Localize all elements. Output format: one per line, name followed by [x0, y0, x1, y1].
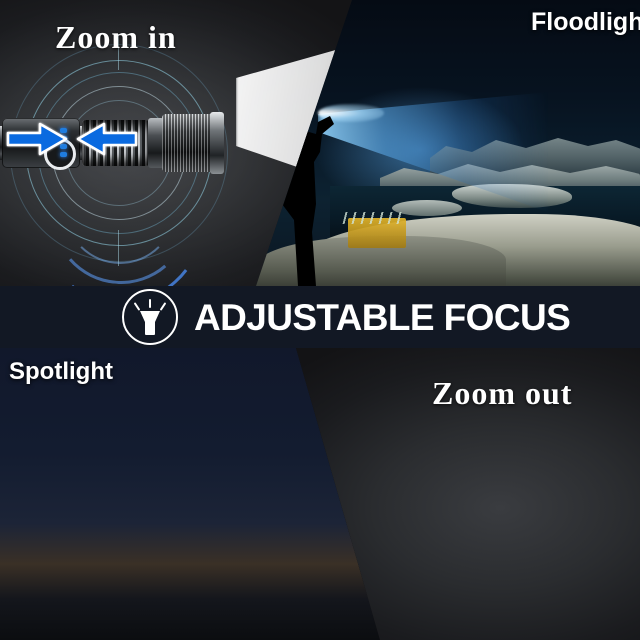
banner-title: ADJUSTABLE FOCUS: [194, 299, 570, 336]
flashlight-icon: [122, 289, 178, 345]
spotlight-label: Spotlight: [9, 358, 113, 386]
zoom-out-label: Zoom out: [432, 375, 572, 412]
flashlight-icon-body: [145, 321, 155, 335]
campsite-frame: [343, 212, 408, 224]
floodlight-label: Floodlight: [531, 8, 640, 37]
flashlight-icon-ray-left: [134, 302, 141, 311]
flashlight-icon-ray-center: [149, 299, 151, 308]
flashlight-bezel: [210, 112, 224, 174]
infographic-canvas: ADJUSTABLE FOCUS: [0, 0, 640, 640]
flashlight-icon-ray-right: [160, 302, 167, 311]
hud-tick-bottom: [118, 230, 119, 266]
zoom-in-arrow-left: [6, 122, 68, 156]
zoom-in-arrow-right: [76, 122, 138, 156]
flashlight-head: [162, 114, 214, 172]
adjustable-focus-banner: ADJUSTABLE FOCUS: [0, 286, 640, 348]
zoom-in-label: Zoom in: [55, 19, 177, 56]
